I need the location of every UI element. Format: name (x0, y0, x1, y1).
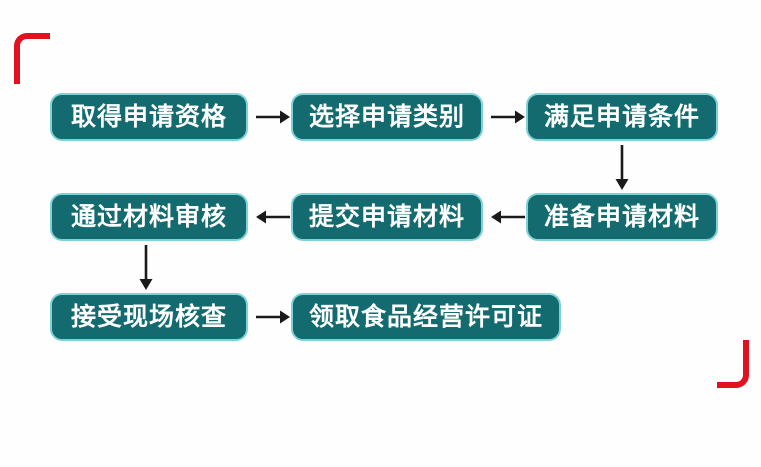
flow-node-label: 准备申请材料 (544, 205, 700, 230)
arrow-down-n4-n7-icon (137, 245, 155, 290)
flow-node-label: 满足申请条件 (544, 105, 700, 130)
flowchart-canvas: 取得申请资格 选择申请类别 满足申请条件 通过材料审核 (0, 0, 761, 467)
flow-node-prepare-materials[interactable]: 准备申请材料 (526, 193, 718, 241)
corner-bracket-top-left-icon (14, 33, 50, 84)
corner-bracket-bottom-right-icon (717, 340, 749, 388)
arrow-right-n1-n2-icon (256, 108, 290, 126)
flow-node-label: 领取食品经营许可证 (309, 305, 543, 330)
arrow-right-n2-n3-icon (491, 108, 525, 126)
flow-node-label: 选择申请类别 (309, 105, 465, 130)
flow-node-pass-material-review[interactable]: 通过材料审核 (50, 193, 248, 241)
flow-node-receive-license[interactable]: 领取食品经营许可证 (291, 293, 561, 341)
arrow-left-n6-n5-icon (491, 208, 525, 226)
flow-node-label: 通过材料审核 (71, 205, 227, 230)
flow-node-label: 取得申请资格 (71, 105, 227, 130)
flow-node-acquire-qualification[interactable]: 取得申请资格 (50, 93, 248, 141)
flow-node-label: 提交申请材料 (309, 205, 465, 230)
flow-node-select-category[interactable]: 选择申请类别 (291, 93, 483, 141)
flow-node-label: 接受现场核查 (71, 305, 227, 330)
flow-node-submit-materials[interactable]: 提交申请材料 (291, 193, 483, 241)
arrow-right-n7-n8-icon (256, 308, 290, 326)
flow-node-meet-conditions[interactable]: 满足申请条件 (526, 93, 718, 141)
arrow-down-n3-n6-icon (613, 145, 631, 190)
arrow-left-n5-n4-icon (256, 208, 290, 226)
flow-node-onsite-inspection[interactable]: 接受现场核查 (50, 293, 248, 341)
